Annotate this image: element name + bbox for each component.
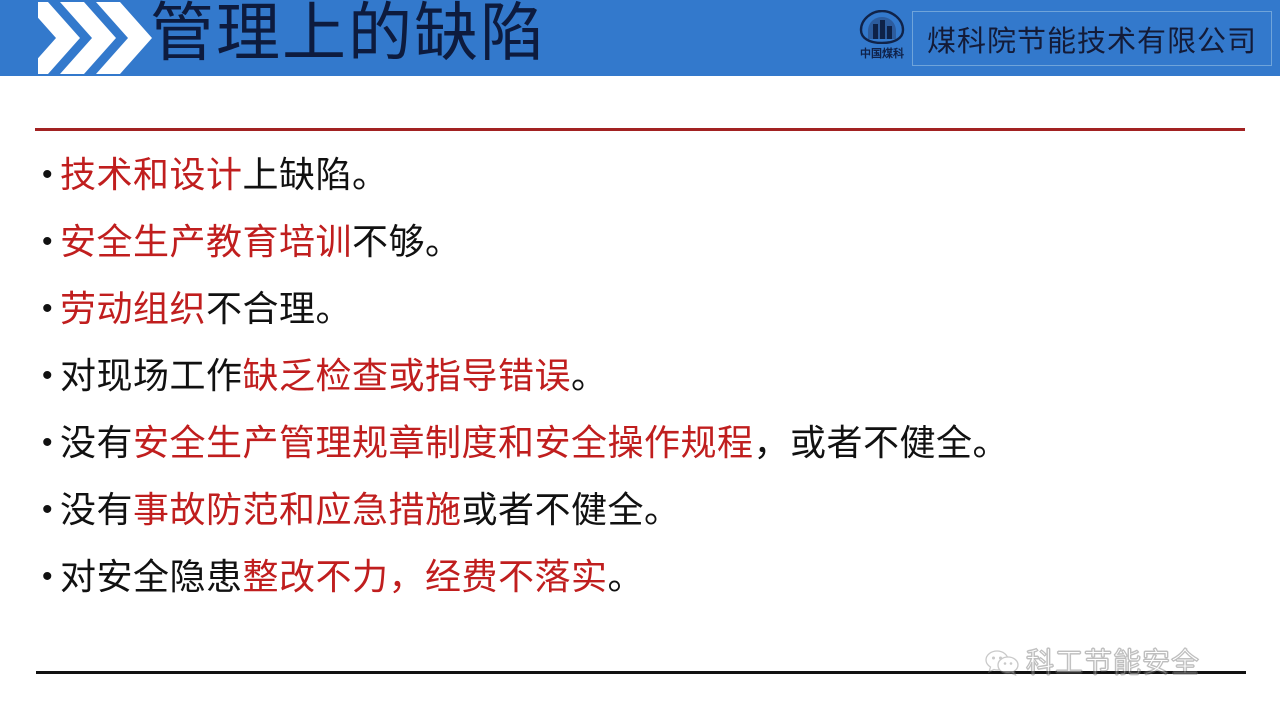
- bullet-marker-icon: •: [36, 420, 60, 466]
- bullet-text: 安全生产教育培训不够。: [60, 219, 462, 265]
- header-banner: 管理上的缺陷 中国煤科 煤科院节能技术有限公司: [0, 0, 1280, 76]
- bullet-segment-red: 安全生产教育培训: [60, 221, 352, 262]
- bullet-item: •没有事故防范和应急措施或者不健全。: [36, 487, 1256, 554]
- bullet-text: 对安全隐患整改不力，经费不落实。: [60, 554, 644, 600]
- bullet-marker-icon: •: [36, 219, 60, 265]
- bullet-segment-red: 缺乏检查或指导错误: [243, 355, 572, 396]
- bullet-segment-red: 安全生产管理规章制度和安全操作规程: [133, 422, 754, 463]
- bullet-item: •对现场工作缺乏检查或指导错误。: [36, 353, 1256, 420]
- bullet-marker-icon: •: [36, 152, 60, 198]
- bullet-item: •技术和设计上缺陷。: [36, 152, 1256, 219]
- company-name-box: 煤科院节能技术有限公司: [912, 11, 1272, 66]
- company-logo: 中国煤科: [853, 8, 911, 68]
- wechat-watermark: 科工节能安全: [985, 641, 1200, 685]
- bullet-segment-black: 或者不健全。: [462, 489, 681, 530]
- bullet-segment-black: ，或者不健全。: [754, 422, 1010, 463]
- bullet-segment-black: 对安全隐患: [60, 556, 243, 597]
- bullet-segment-black: 没有: [60, 489, 133, 530]
- bullet-text: 劳动组织不合理。: [60, 286, 352, 332]
- bullet-segment-black: 没有: [60, 422, 133, 463]
- bullet-item: •对安全隐患整改不力，经费不落实。: [36, 554, 1256, 621]
- bullet-marker-icon: •: [36, 487, 60, 533]
- china-coal-emblem-icon: [859, 10, 905, 44]
- bullet-item: •安全生产教育培训不够。: [36, 219, 1256, 286]
- page-title: 管理上的缺陷: [150, 0, 546, 76]
- wechat-icon: [985, 649, 1019, 677]
- bullet-marker-icon: •: [36, 286, 60, 332]
- bullet-item: •劳动组织不合理。: [36, 286, 1256, 353]
- bullet-text: 没有安全生产管理规章制度和安全操作规程，或者不健全。: [60, 420, 1009, 466]
- bullet-item: •没有安全生产管理规章制度和安全操作规程，或者不健全。: [36, 420, 1256, 487]
- bullet-text: 技术和设计上缺陷。: [60, 152, 389, 198]
- bullet-segment-red: 劳动组织: [60, 288, 206, 329]
- bullet-segment-black: 不够。: [352, 221, 462, 262]
- logo-text: 中国煤科: [853, 45, 911, 61]
- bullet-marker-icon: •: [36, 554, 60, 600]
- bullet-text: 没有事故防范和应急措施或者不健全。: [60, 487, 681, 533]
- bullet-marker-icon: •: [36, 353, 60, 399]
- company-name: 煤科院节能技术有限公司: [927, 18, 1257, 60]
- bullet-segment-black: 上缺陷。: [243, 154, 389, 195]
- bullet-segment-black: 不合理。: [206, 288, 352, 329]
- bullet-list: •技术和设计上缺陷。•安全生产教育培训不够。•劳动组织不合理。•对现场工作缺乏检…: [36, 152, 1256, 621]
- watermark-text: 科工节能安全: [1026, 646, 1200, 680]
- bullet-text: 对现场工作缺乏检查或指导错误。: [60, 353, 608, 399]
- bullet-segment-red: 事故防范和应急措施: [133, 489, 462, 530]
- double-chevron-right-icon: [38, 0, 156, 76]
- header-divider-rule: [35, 128, 1245, 131]
- bullet-segment-black: 对现场工作: [60, 355, 243, 396]
- bullet-segment-red: 整改不力，经费不落实: [243, 556, 608, 597]
- bullet-segment-red: 技术和设计: [60, 154, 243, 195]
- bullet-segment-black: 。: [608, 556, 645, 597]
- bullet-segment-black: 。: [571, 355, 608, 396]
